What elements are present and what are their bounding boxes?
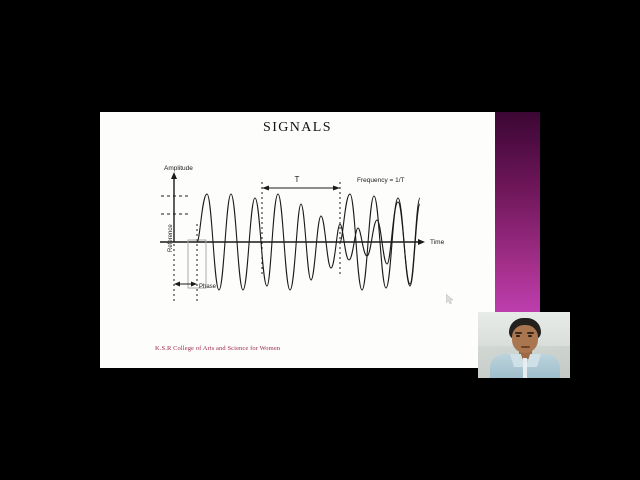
- webcam-shirt-placket: [523, 358, 527, 378]
- phase-label: Phase: [199, 284, 217, 290]
- frequency-label: Frequency = 1/T: [357, 177, 405, 184]
- y-axis-label: Amplitude: [164, 165, 193, 172]
- x-axis-arrowhead: [418, 239, 425, 245]
- magenta-gradient-band: [495, 112, 540, 320]
- x-axis-label: Time: [430, 239, 445, 246]
- webcam-brow-left: [515, 332, 522, 334]
- webcam-thumbnail[interactable]: [478, 312, 570, 378]
- shared-screen-region[interactable]: SIGNALS: [100, 112, 540, 368]
- slide-footer-text: K.S.R College of Arts and Science for Wo…: [155, 345, 280, 352]
- screen-root: SIGNALS: [0, 0, 640, 480]
- reference-label: Reference: [168, 224, 174, 252]
- webcam-face: [512, 325, 538, 353]
- period-label: T: [295, 175, 300, 184]
- mouse-pointer-icon: [446, 292, 455, 303]
- y-axis-arrowhead: [171, 172, 177, 179]
- webcam-brow-right: [527, 332, 534, 334]
- page-title: SIGNALS: [100, 120, 495, 136]
- webcam-eye-left: [516, 335, 520, 337]
- signal-waveform-diagram: Amplitude Time T Frequency = 1/T Phase R…: [152, 164, 457, 309]
- presentation-slide[interactable]: SIGNALS: [100, 112, 495, 368]
- webcam-mouth: [521, 346, 530, 348]
- webcam-eye-right: [528, 335, 532, 337]
